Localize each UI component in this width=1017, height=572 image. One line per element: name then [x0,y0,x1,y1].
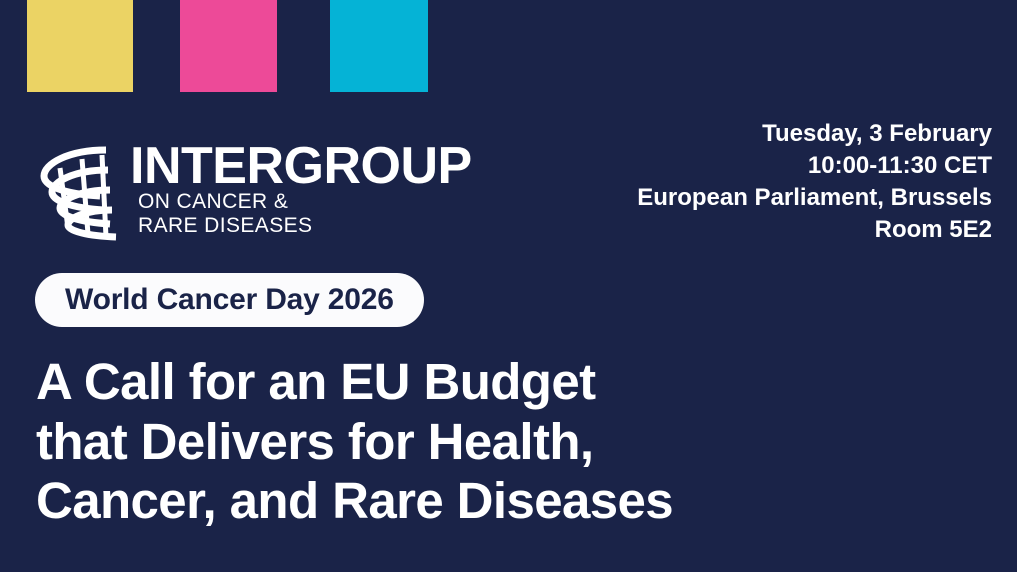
event-venue: European Parliament, Brussels [637,182,992,214]
world-cancer-day-badge: World Cancer Day 2026 [35,273,424,327]
logo-subtitle-line-2: RARE DISEASES [138,214,312,237]
yellow-bar [27,0,133,92]
event-room: Room 5E2 [637,214,992,246]
cyan-bar [330,0,428,92]
hemicycle-arcs-icon [38,142,142,242]
logo-subtitle-line-1: ON CANCER & [138,190,288,213]
event-banner: INTERGROUP ON CANCER & RARE DISEASES Tue… [0,0,1017,572]
pink-bar [180,0,277,92]
headline-line-1: A Call for an EU Budget [36,352,673,412]
event-date: Tuesday, 3 February [637,118,992,150]
logo-subtitle: ON CANCER & RARE DISEASES [138,190,312,237]
headline-line-3: Cancer, and Rare Diseases [36,471,673,531]
event-time: 10:00-11:30 CET [637,150,992,182]
intergroup-logo: INTERGROUP ON CANCER & RARE DISEASES [38,138,438,248]
headline-line-2: that Delivers for Health, [36,412,673,472]
event-details: Tuesday, 3 February 10:00-11:30 CET Euro… [637,118,992,246]
badge-label: World Cancer Day 2026 [65,283,394,317]
logo-wordmark: INTERGROUP [130,140,472,192]
page-title: A Call for an EU Budget that Delivers fo… [36,352,673,531]
